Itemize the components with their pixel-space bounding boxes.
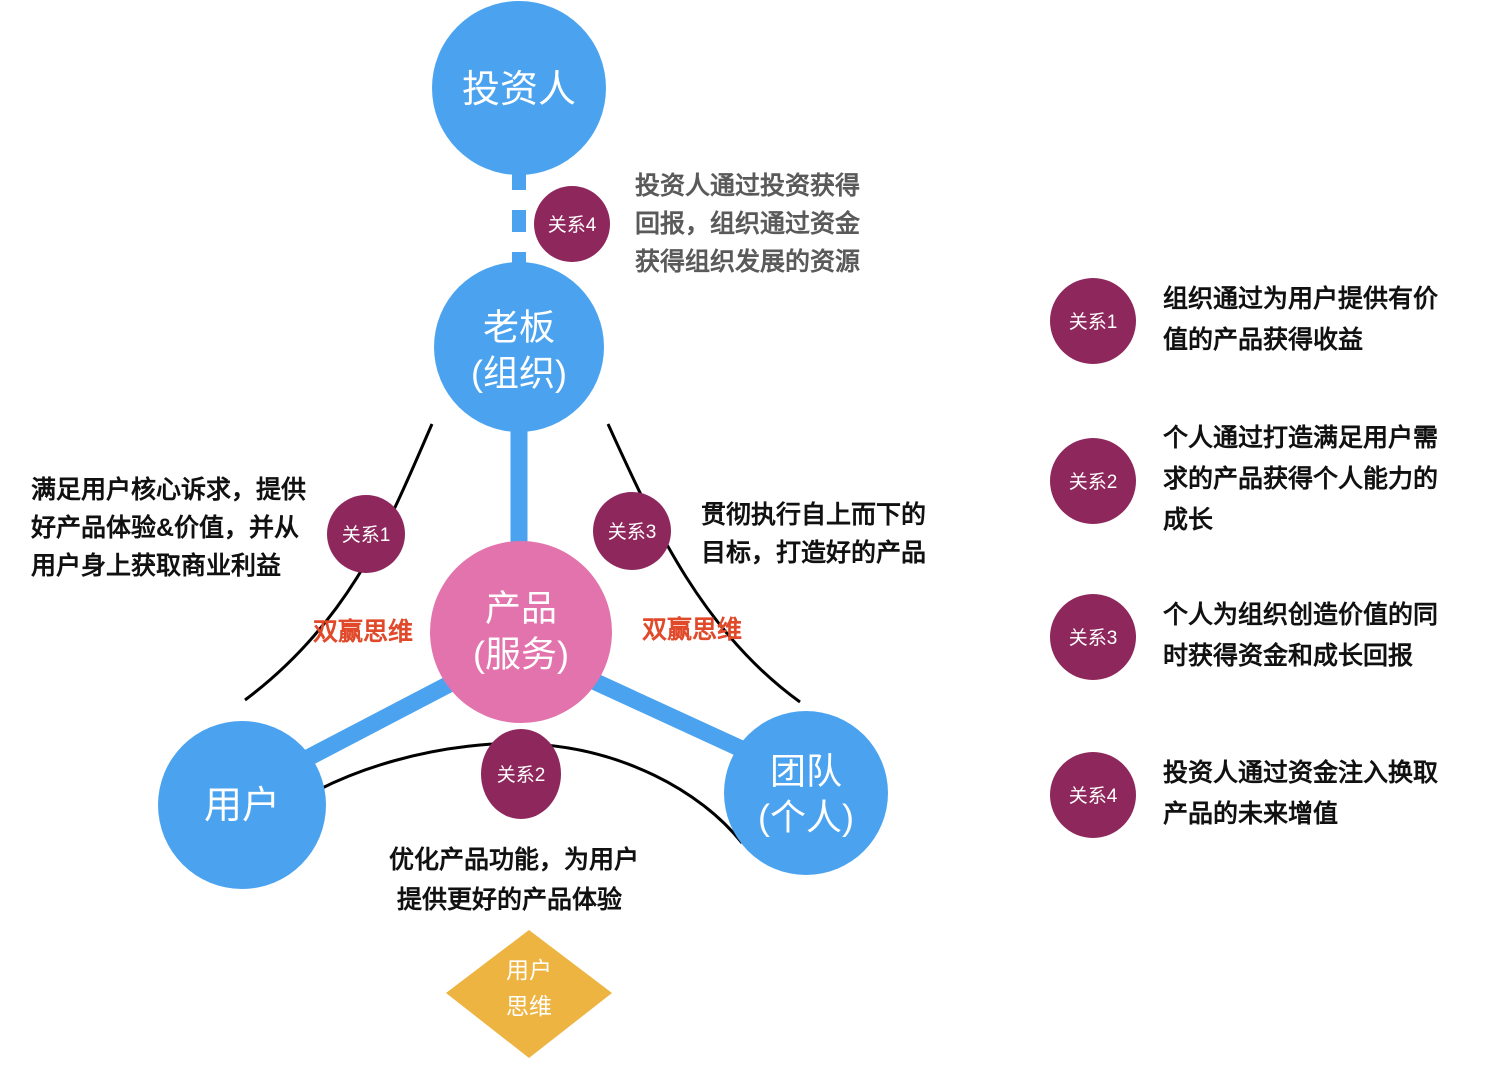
label-win-win-left: 双赢思维 bbox=[313, 617, 413, 646]
annotation-bottom-line1: 优化产品功能，为用户 bbox=[389, 845, 639, 874]
legend-badge-3-label: 关系3 bbox=[1069, 627, 1118, 649]
annotation-right-line2: 目标，打造好的产品 bbox=[701, 538, 926, 567]
annotation-top-line3: 获得组织发展的资源 bbox=[635, 247, 860, 276]
annotation-left-line1: 满足用户核心诉求，提供 bbox=[31, 475, 306, 504]
legend-text-3-line1: 个人为组织创造价值的同 bbox=[1163, 600, 1438, 629]
node-boss-label-line2: (组织) bbox=[471, 353, 567, 394]
node-user-label: 用户 bbox=[204, 785, 280, 827]
relationship-diagram: 投资人 老板 (组织) 产品 (服务) 用户 团队 (个人) 用户 思维 关系4… bbox=[0, 0, 1506, 1072]
badge-relation-4-label: 关系4 bbox=[548, 214, 597, 236]
diagram-canvas: 投资人 老板 (组织) 产品 (服务) 用户 团队 (个人) 用户 思维 关系4… bbox=[0, 0, 1506, 1072]
legend-text-2-line1: 个人通过打造满足用户需 bbox=[1163, 423, 1438, 452]
legend-badge-1-label: 关系1 bbox=[1069, 311, 1118, 333]
legend-text-1-line2: 值的产品获得收益 bbox=[1163, 325, 1363, 354]
legend-badge-2-label: 关系2 bbox=[1069, 471, 1118, 493]
annotation-left-line3: 用户身上获取商业利益 bbox=[31, 551, 281, 580]
legend-text-3-line2: 时获得资金和成长回报 bbox=[1163, 641, 1413, 670]
badge-relation-2-label: 关系2 bbox=[497, 764, 546, 786]
annotation-top-line2: 回报，组织通过资金 bbox=[635, 209, 861, 238]
legend-text-2-line3: 成长 bbox=[1163, 506, 1214, 534]
legend-badge-4-label: 关系4 bbox=[1069, 785, 1118, 807]
annotation-bottom-line2: 提供更好的产品体验 bbox=[397, 885, 622, 914]
node-product-label-line2: (服务) bbox=[473, 634, 569, 675]
legend-text-4-line2: 产品的未来增值 bbox=[1163, 799, 1338, 828]
badge-relation-3-label: 关系3 bbox=[608, 521, 657, 543]
node-team[interactable] bbox=[724, 711, 888, 875]
legend-text-4-line1: 投资人通过资金注入换取 bbox=[1163, 758, 1438, 787]
legend-text-2-line2: 求的产品获得个人能力的 bbox=[1163, 464, 1438, 493]
node-team-label-line1: 团队 bbox=[770, 751, 842, 792]
diamond-label-line1: 用户 bbox=[506, 957, 552, 983]
label-win-win-right: 双赢思维 bbox=[642, 615, 742, 644]
diamond-label-line2: 思维 bbox=[506, 993, 552, 1019]
legend-text-1-line1: 组织通过为用户提供有价 bbox=[1163, 284, 1439, 313]
node-product-label-line1: 产品 bbox=[485, 588, 557, 629]
annotation-left-line2: 好产品体验&价值，并从 bbox=[30, 513, 299, 542]
annotation-right-line1: 贯彻执行自上而下的 bbox=[701, 500, 926, 529]
annotation-top-line1: 投资人通过投资获得 bbox=[635, 171, 860, 200]
node-product[interactable] bbox=[430, 541, 612, 723]
node-investor-label: 投资人 bbox=[462, 69, 576, 111]
node-team-label-line2: (个人) bbox=[758, 797, 854, 838]
node-boss-label-line1: 老板 bbox=[483, 307, 555, 348]
badge-relation-1-label: 关系1 bbox=[342, 524, 391, 546]
